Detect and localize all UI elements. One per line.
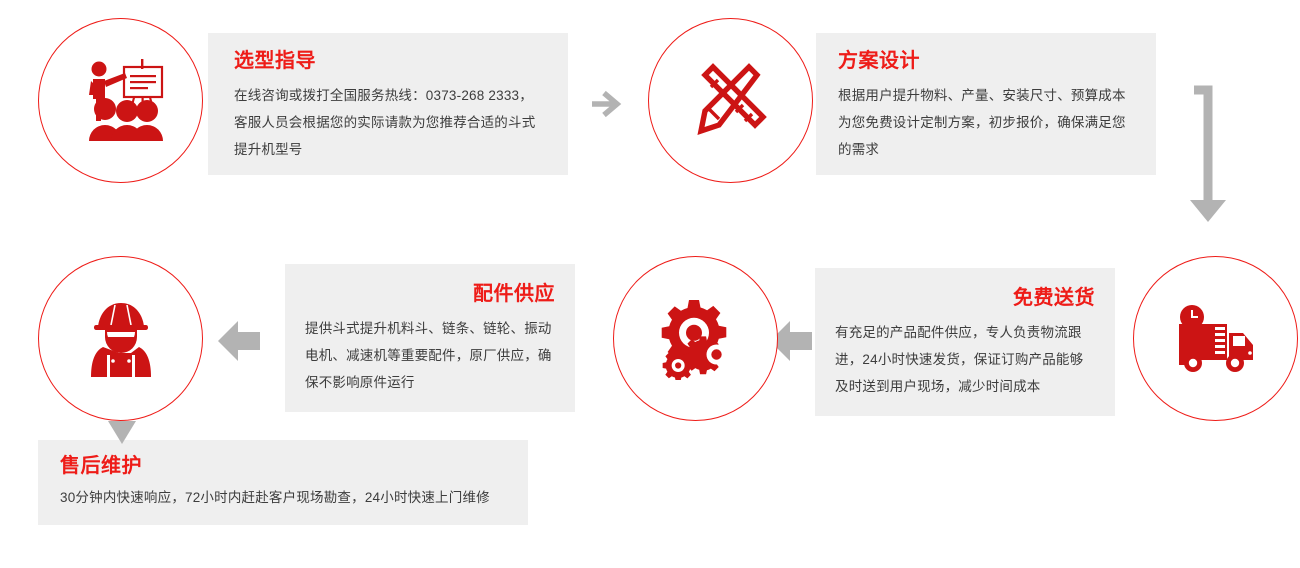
step-title: 方案设计	[838, 49, 1134, 73]
pencil-ruler-design-icon	[691, 61, 771, 141]
step-body: 在线咨询或拨打全国服务热线：0373-268 2333，客服人员会根据您的实际请…	[234, 82, 546, 163]
presentation-training-icon	[77, 59, 165, 143]
connector-arrow-right-1	[586, 84, 626, 124]
arrow-elbow-down-icon	[1168, 84, 1228, 229]
arrow-down-small-icon	[106, 417, 138, 447]
step-card-scheme-design: 方案设计 根据用户提升物料、产量、安装尺寸、预算成本为您免费设计定制方案，初步报…	[816, 33, 1156, 175]
step-circle-selection-guide[interactable]	[38, 18, 203, 183]
step-body: 提供斗式提升机料斗、链条、链轮、振动电机、减速机等重要配件，原厂供应，确保不影响…	[305, 315, 555, 396]
step-circle-parts-supply[interactable]	[613, 256, 778, 421]
step-title: 售后维护	[60, 454, 508, 478]
arrow-left-icon	[216, 306, 262, 376]
step-body: 30分钟内快速响应，72小时内赶赴客户现场勘查，24小时快速上门维修	[60, 487, 508, 509]
connector-arrow-elbow-down	[1168, 84, 1228, 229]
step-card-free-delivery: 免费送货 有充足的产品配件供应，专人负责物流跟进，24小时快速发货，保证订购产品…	[815, 268, 1115, 416]
step-body: 根据用户提升物料、产量、安装尺寸、预算成本为您免费设计定制方案，初步报价，确保满…	[838, 82, 1134, 163]
step-body: 有充足的产品配件供应，专人负责物流跟进，24小时快速发货，保证订购产品能够及时送…	[835, 319, 1095, 400]
step-card-after-sales: 售后维护 30分钟内快速响应，72小时内赶赴客户现场勘查，24小时快速上门维修	[38, 440, 528, 525]
step-card-parts-supply: 配件供应 提供斗式提升机料斗、链条、链轮、振动电机、减速机等重要配件，原厂供应，…	[285, 264, 575, 412]
gears-parts-icon	[653, 298, 739, 380]
step-card-selection-guide: 选型指导 在线咨询或拨打全国服务热线：0373-268 2333，客服人员会根据…	[208, 33, 568, 175]
connector-arrow-down-small	[106, 417, 138, 447]
service-flow-diagram: 选型指导 在线咨询或拨打全国服务热线：0373-268 2333，客服人员会根据…	[0, 0, 1300, 568]
step-circle-after-sales[interactable]	[38, 256, 203, 421]
delivery-truck-icon	[1173, 305, 1259, 373]
step-title: 选型指导	[234, 49, 546, 73]
step-title: 配件供应	[305, 282, 555, 306]
connector-arrow-left-2	[216, 306, 262, 376]
step-circle-free-delivery[interactable]	[1133, 256, 1298, 421]
step-title: 免费送货	[835, 286, 1095, 310]
worker-helmet-icon	[85, 299, 157, 379]
arrow-right-icon	[586, 84, 626, 124]
step-circle-scheme-design[interactable]	[648, 18, 813, 183]
